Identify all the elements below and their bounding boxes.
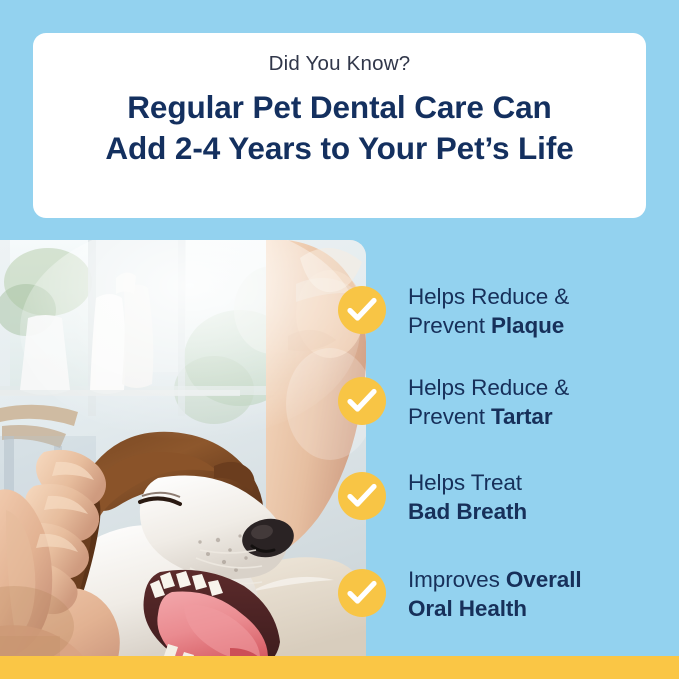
benefit-line-2: Bad Breath: [408, 497, 527, 526]
eyebrow-text: Did You Know?: [269, 52, 411, 77]
benefit-label: Helps Treat Bad Breath: [408, 462, 527, 527]
benefit-line-2: Prevent Tartar: [408, 402, 569, 431]
checkmark-icon: [338, 569, 386, 617]
dog-photo: [0, 240, 366, 656]
benefit-item-tartar: Helps Reduce & Prevent Tartar: [338, 367, 679, 432]
bottom-accent-bar: [0, 656, 679, 679]
benefit-label: Helps Reduce & Prevent Tartar: [408, 367, 569, 432]
dog-photo-illustration: [0, 240, 366, 656]
benefit-line-1: Helps Reduce &: [408, 282, 569, 311]
benefit-label: Helps Reduce & Prevent Plaque: [408, 276, 569, 341]
benefit-line-1: Improves Overall: [408, 565, 582, 594]
page-title: Regular Pet Dental Care Can Add 2-4 Year…: [91, 87, 587, 170]
benefit-line-1-plain: Improves: [408, 567, 506, 592]
benefits-list: Helps Reduce & Prevent Plaque Helps Redu…: [338, 276, 679, 638]
benefit-line-2-bold: Bad Breath: [408, 499, 527, 524]
benefit-item-oral-health: Improves Overall Oral Health: [338, 559, 679, 624]
benefit-item-plaque: Helps Reduce & Prevent Plaque: [338, 276, 679, 341]
benefit-line-1: Helps Reduce &: [408, 373, 569, 402]
benefit-line-2-plain: Prevent: [408, 313, 491, 338]
benefit-line-1: Helps Treat: [408, 468, 527, 497]
benefit-line-2-plain: Prevent: [408, 404, 491, 429]
checkmark-icon: [338, 377, 386, 425]
checkmark-icon: [338, 286, 386, 334]
benefit-label: Improves Overall Oral Health: [408, 559, 582, 624]
benefit-line-1-bold: Overall: [506, 567, 582, 592]
benefit-line-2: Prevent Plaque: [408, 311, 569, 340]
benefit-line-2-bold: Oral Health: [408, 596, 527, 621]
infographic-canvas: Did You Know? Regular Pet Dental Care Ca…: [0, 0, 679, 679]
benefit-line-2: Oral Health: [408, 594, 582, 623]
headline-card: Did You Know? Regular Pet Dental Care Ca…: [33, 33, 646, 218]
benefit-line-2-bold: Tartar: [491, 404, 553, 429]
benefit-item-bad-breath: Helps Treat Bad Breath: [338, 462, 679, 527]
headline-line-2: Add 2-4 Years to Your Pet’s Life: [105, 128, 573, 169]
checkmark-icon: [338, 472, 386, 520]
benefit-line-2-bold: Plaque: [491, 313, 564, 338]
headline-line-1: Regular Pet Dental Care Can: [105, 87, 573, 128]
